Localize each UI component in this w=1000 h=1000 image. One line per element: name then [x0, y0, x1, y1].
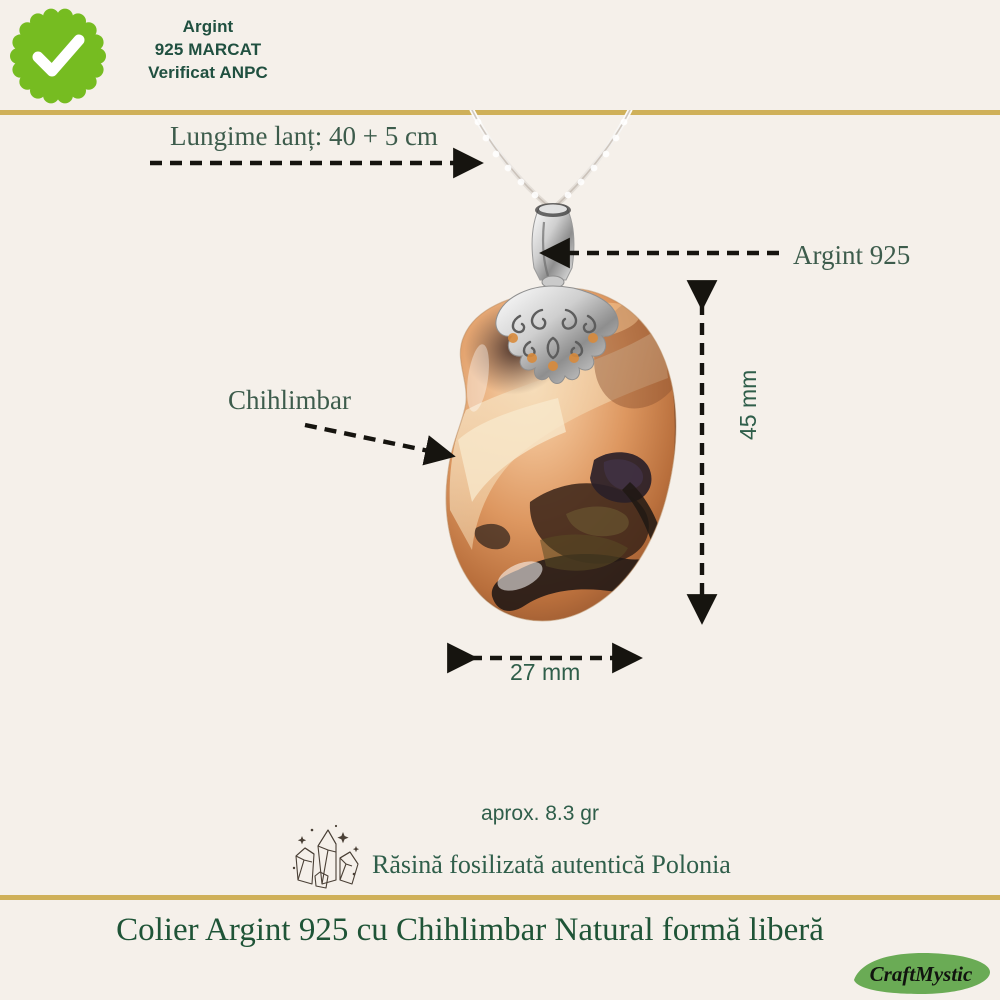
crystal-cluster-icon	[288, 822, 370, 892]
product-photo	[380, 110, 740, 650]
brand-logo[interactable]: CraftMystic	[848, 950, 994, 998]
verified-check-icon	[8, 6, 108, 106]
badge-line-3: Verificat ANPC	[108, 62, 308, 85]
badge-text-block: Argint 925 MARCAT Verificat ANPC	[108, 16, 308, 85]
infographic-canvas: Argint 925 MARCAT Verificat ANPC	[0, 0, 1000, 1000]
badge-line-2: 925 MARCAT	[108, 39, 308, 62]
amber-label: Chihlimbar	[228, 385, 351, 416]
height-dimension-label: 45 mm	[735, 370, 762, 440]
badge-line-1: Argint	[108, 16, 308, 39]
origin-label: Răsină fosilizată autentică Polonia	[372, 850, 731, 880]
divider-bottom	[0, 895, 1000, 900]
brand-logo-text: CraftMystic	[870, 962, 973, 986]
weight-label: aprox. 8.3 gr	[380, 802, 700, 826]
chain-length-label: Lungime lanț: 40 + 5 cm	[170, 121, 438, 152]
page-title: Colier Argint 925 cu Chihlimbar Natural …	[60, 910, 880, 951]
silver-label: Argint 925	[793, 240, 910, 271]
width-dimension-label: 27 mm	[510, 659, 580, 686]
